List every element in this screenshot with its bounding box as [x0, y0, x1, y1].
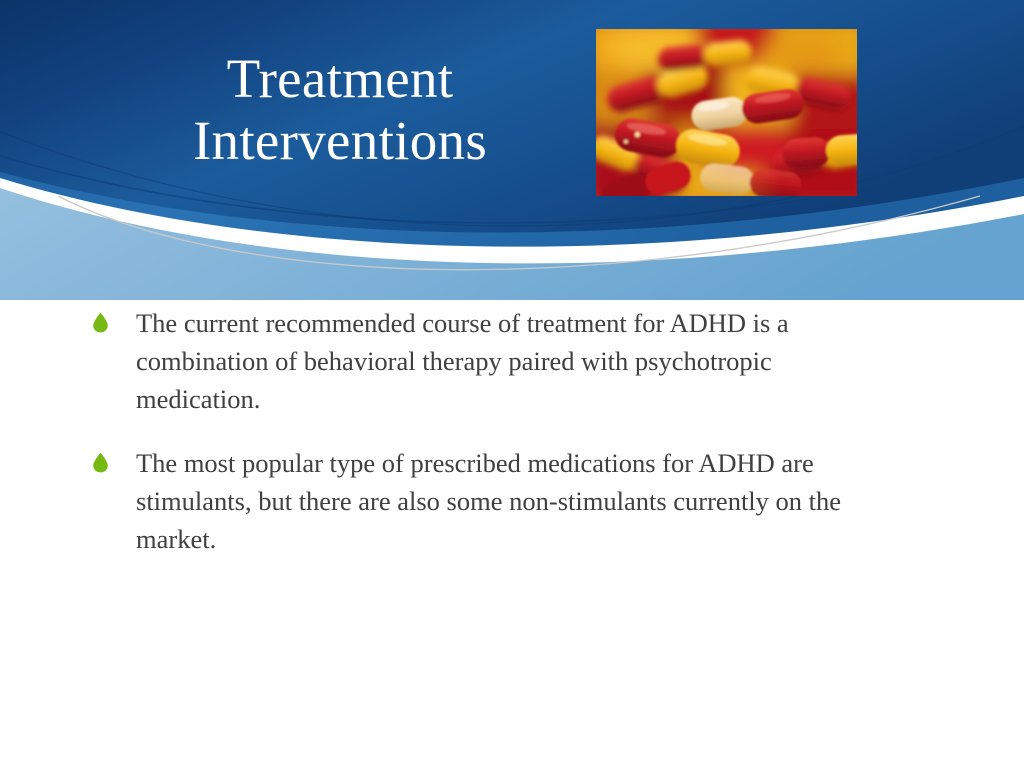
pills-photo-graphic — [596, 29, 857, 196]
list-item: The most popular type of prescribed medi… — [92, 444, 892, 558]
list-item-text: The most popular type of prescribed medi… — [136, 444, 866, 558]
slide-body: The current recommended course of treatm… — [92, 304, 892, 584]
slide-title: Treatment Interventions — [60, 48, 620, 172]
header-thin-arc — [58, 196, 980, 270]
pills-photo — [596, 29, 857, 196]
slide-title-line-1: Treatment — [60, 48, 620, 110]
slide-title-line-2: Interventions — [60, 110, 620, 172]
header-band-pale — [0, 188, 1024, 300]
green-droplet-bullet-icon — [92, 444, 136, 473]
slide: Treatment Interventions — [0, 0, 1024, 768]
list-item: The current recommended course of treatm… — [92, 304, 892, 418]
green-droplet-bullet-icon — [92, 304, 136, 333]
list-item-text: The current recommended course of treatm… — [136, 304, 866, 418]
